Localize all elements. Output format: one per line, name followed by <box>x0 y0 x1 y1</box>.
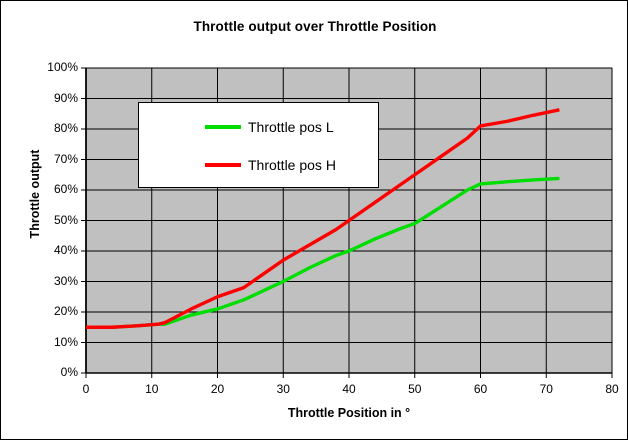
plot-area <box>1 1 628 440</box>
y-tick-label: 0% <box>32 365 78 379</box>
y-tick-label: 10% <box>32 335 78 349</box>
x-tick-label: 10 <box>132 382 172 396</box>
y-tick-label: 70% <box>32 152 78 166</box>
x-tick-label: 0 <box>66 382 106 396</box>
x-tick-label: 30 <box>263 382 303 396</box>
legend-swatch-green-icon <box>205 125 241 129</box>
y-tick-label: 30% <box>32 274 78 288</box>
x-axis-title: Throttle Position in ° <box>86 406 612 420</box>
legend-swatch-red-icon <box>205 163 241 167</box>
x-tick-label: 40 <box>329 382 369 396</box>
y-tick-label: 50% <box>32 213 78 227</box>
legend-label: Throttle pos H <box>248 157 336 173</box>
chart-legend: Throttle pos L Throttle pos H <box>138 102 379 188</box>
x-tick-label: 80 <box>592 382 628 396</box>
legend-item-throttle-pos-l: Throttle pos L <box>139 117 380 137</box>
y-tick-label: 100% <box>32 60 78 74</box>
y-tick-label: 90% <box>32 91 78 105</box>
y-tick-label: 20% <box>32 304 78 318</box>
y-tick-label: 60% <box>32 182 78 196</box>
legend-item-throttle-pos-h: Throttle pos H <box>139 155 380 175</box>
x-tick-label: 60 <box>461 382 501 396</box>
legend-label: Throttle pos L <box>248 119 334 135</box>
y-tick-label: 40% <box>32 243 78 257</box>
x-tick-label: 50 <box>395 382 435 396</box>
chart-container: Throttle output over Throttle Position T… <box>0 0 628 440</box>
x-tick-label: 70 <box>526 382 566 396</box>
x-tick-label: 20 <box>198 382 238 396</box>
y-tick-label: 80% <box>32 121 78 135</box>
